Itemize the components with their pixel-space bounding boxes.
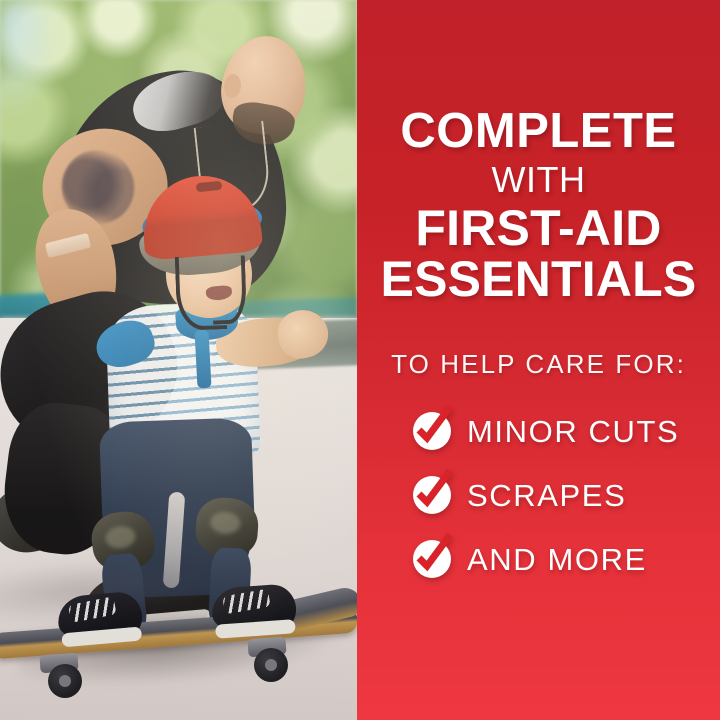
- child-sneaker-right: [210, 583, 297, 635]
- red-copy-panel: COMPLETE WITH FIRST-AID ESSENTIALS TO HE…: [357, 0, 720, 720]
- lifestyle-photo: [0, 0, 357, 720]
- care-item-label: MINOR CUTS: [467, 416, 679, 447]
- sneaker-laces: [222, 589, 270, 615]
- skateboard-wheel-rear: [48, 664, 82, 698]
- headline-line-with: WITH: [369, 159, 708, 200]
- wheel-hub: [59, 675, 71, 687]
- advertisement-canvas: COMPLETE WITH FIRST-AID ESSENTIALS TO HE…: [0, 0, 720, 720]
- knee-pad-highlight: [104, 524, 137, 550]
- headline-block: COMPLETE WITH FIRST-AID ESSENTIALS: [369, 108, 708, 304]
- care-for-list: MINOR CUTS SCRAPES AND MOR: [413, 412, 708, 578]
- check-circle-icon: [413, 476, 451, 514]
- subheadline: TO HELP CARE FOR:: [369, 349, 708, 380]
- list-item: MINOR CUTS: [413, 412, 708, 450]
- headline-line-complete: COMPLETE: [369, 108, 708, 155]
- wheel-hub: [265, 659, 277, 671]
- skateboard-wheel-front: [254, 648, 288, 682]
- list-item: AND MORE: [413, 540, 708, 578]
- headline-line-essentials: ESSENTIALS: [369, 254, 708, 304]
- child-shirt-placket: [194, 330, 211, 389]
- care-item-label: AND MORE: [467, 544, 647, 575]
- list-item: SCRAPES: [413, 476, 708, 514]
- knee-pad-highlight: [210, 511, 241, 535]
- care-item-label: SCRAPES: [467, 480, 626, 511]
- sky-highlight: [0, 0, 60, 120]
- check-circle-icon: [413, 412, 451, 450]
- headline-line-first-aid: FIRST-AID: [369, 203, 708, 253]
- sneaker-laces: [68, 596, 117, 622]
- check-circle-icon: [413, 540, 451, 578]
